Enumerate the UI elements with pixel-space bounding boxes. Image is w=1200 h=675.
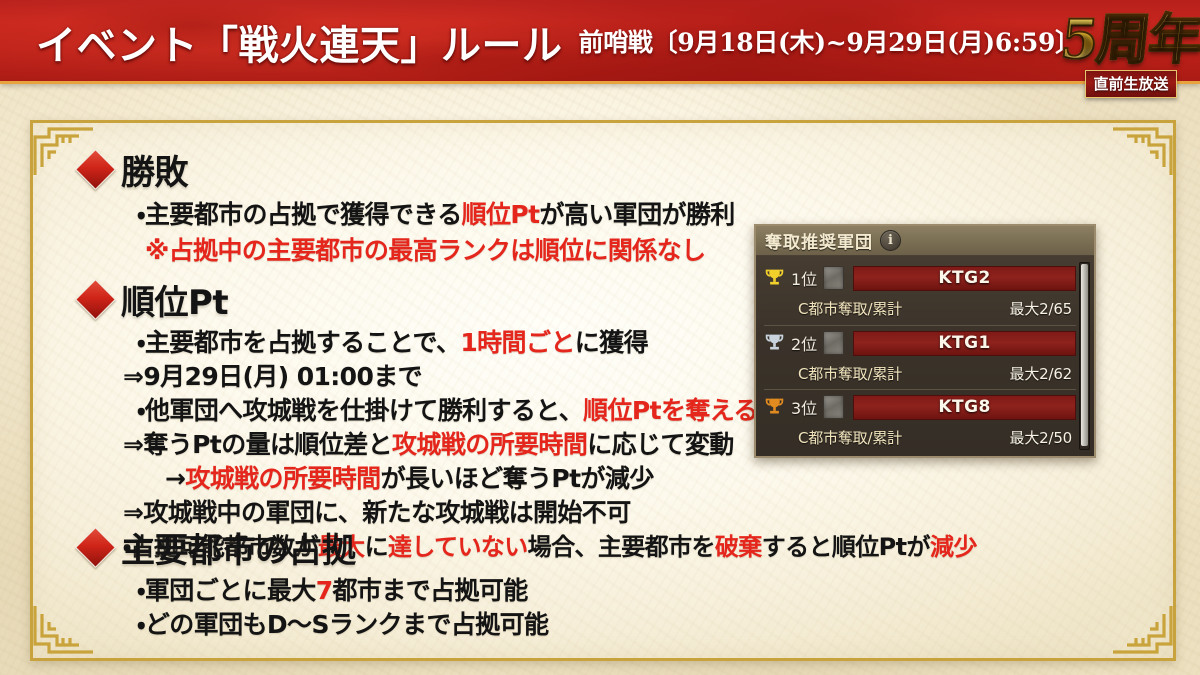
panel-header: 奪取推奨軍団 i (756, 226, 1094, 256)
text-fragment: ・軍団ごとに最大 (137, 576, 316, 605)
text-fragment-highlight: 攻城戦の所要時間 (392, 430, 587, 459)
text-fragment: に応じて変動 (587, 430, 733, 459)
text-fragment: ⇒9月29日(月) 01:00まで (123, 362, 422, 391)
section-heading-shouhai: 勝敗 (81, 145, 188, 194)
legion-emblem-icon (823, 331, 844, 355)
legion-name-bar: KTG2 (853, 266, 1076, 291)
text-fragment-highlight: 1時間ごと (460, 328, 574, 357)
table-row[interactable]: 3位 KTG8 C都市奪取/累計 最大2/50 (764, 389, 1076, 453)
anniversary-badge-label: 5周年 (1057, 2, 1200, 76)
section-heading-label: 勝敗 (121, 145, 188, 194)
scrollbar-thumb[interactable] (1081, 264, 1088, 446)
rule-line: ・どの軍団もD〜Sランクまで占拠可能 (137, 605, 548, 641)
section-heading-label: 順位Pt (121, 275, 228, 324)
rank-row-metrics: C都市奪取/累計 最大2/62 (764, 360, 1076, 386)
rule-line: ・軍団ごとに最大7都市まで占拠可能 (137, 571, 528, 607)
rank-row-metrics: C都市奪取/累計 最大2/65 (764, 295, 1076, 321)
panel-title: 奪取推奨軍団 (765, 228, 873, 253)
legion-name-bar: KTG8 (853, 395, 1076, 420)
legion-rank-list[interactable]: 1位 KTG2 C都市奪取/累計 最大2/65 2位 KTG1 (756, 256, 1094, 456)
recommended-legions-panel: 奪取推奨軍団 i 1位 KTG2 C都市奪取/累計 最大2/65 (754, 224, 1096, 458)
text-fragment: ⇒奪うPtの量は順位差と (123, 430, 392, 459)
text-fragment: ・他軍団へ攻城戦を仕掛けて勝利すると、 (137, 396, 583, 425)
rank-label: 2位 (791, 331, 817, 355)
text-fragment: 場合、主要都市を (528, 533, 715, 561)
text-fragment-highlight: 破棄 (715, 533, 762, 561)
section-heading-junipt: 順位Pt (81, 275, 228, 324)
legion-name: KTG2 (938, 268, 991, 288)
metric-label: C都市奪取/累計 (798, 427, 902, 448)
legion-name: KTG8 (938, 397, 991, 417)
text-fragment: ・主要都市の占拠で獲得できる (137, 200, 462, 229)
text-fragment-highlight: 攻城戦の所要時間 (185, 464, 380, 493)
rank-label: 1位 (791, 266, 817, 290)
section-heading-shuyotoshi: 主要都市の占拠 (81, 523, 356, 572)
text-fragment: 都市まで占拠可能 (333, 576, 528, 605)
info-icon[interactable]: i (880, 230, 901, 251)
text-fragment: が長いほど奪うPtが減少 (381, 464, 654, 493)
rank-row-top: 3位 KTG8 (764, 390, 1076, 424)
text-fragment: ・主要都市を占拠することで、 (137, 328, 460, 357)
event-period: 前哨戦〔9月18日(木)~9月29日(月)6:59〕 (579, 23, 1080, 61)
section-heading-label: 主要都市の占拠 (121, 523, 356, 572)
text-fragment: → (165, 464, 185, 493)
diamond-bullet-icon (75, 279, 116, 320)
legion-emblem-icon (823, 266, 844, 290)
table-row[interactable]: 1位 KTG2 C都市奪取/累計 最大2/65 (764, 261, 1076, 325)
trophy-gold-icon (764, 267, 785, 289)
rule-line: →攻城戦の所要時間が長いほど奪うPtが減少 (165, 459, 654, 495)
text-fragment-highlight: 達していない (388, 533, 528, 561)
text-fragment: が高い軍団が勝利 (539, 200, 734, 229)
text-fragment-highlight: 減少 (930, 533, 977, 561)
diamond-bullet-icon (75, 149, 116, 190)
title-row: イベント「戦火連天」ルール 前哨戦〔9月18日(木)~9月29日(月)6:59〕 (36, 0, 1080, 84)
text-fragment: に獲得 (575, 328, 648, 357)
trophy-bronze-icon (764, 396, 785, 418)
rule-line: ※占拠中の主要都市の最高ランクは順位に関係なし (145, 231, 706, 267)
rule-line: ・主要都市を占拠することで、1時間ごとに獲得 (137, 323, 648, 359)
title-banner: イベント「戦火連天」ルール 前哨戦〔9月18日(木)~9月29日(月)6:59〕 (0, 0, 1200, 84)
text-fragment-highlight: 順位Pt (462, 200, 540, 229)
text-fragment: に (365, 533, 388, 561)
rank-row-top: 1位 KTG2 (764, 261, 1076, 295)
anniversary-badge: 5周年 直前生放送 (1068, 2, 1194, 112)
trophy-silver-icon (764, 332, 785, 354)
table-row[interactable]: 2位 KTG1 C都市奪取/累計 最大2/62 (764, 325, 1076, 389)
text-fragment: ・どの軍団もD〜Sランクまで占拠可能 (137, 610, 548, 639)
text-fragment-highlight: 順位Ptを奪える (583, 396, 758, 425)
legion-name-bar: KTG1 (853, 331, 1076, 356)
legion-emblem-icon (823, 395, 844, 419)
page-title: イベント「戦火連天」ルール (36, 13, 563, 71)
diamond-bullet-icon (75, 527, 116, 568)
rule-line: ・主要都市の占拠で獲得できる順位Ptが高い軍団が勝利 (137, 195, 735, 231)
slide-background: イベント「戦火連天」ルール 前哨戦〔9月18日(木)~9月29日(月)6:59〕… (0, 0, 1200, 675)
metric-value: 最大2/65 (1010, 298, 1072, 319)
metric-label: C都市奪取/累計 (798, 298, 902, 319)
metric-label: C都市奪取/累計 (798, 363, 902, 384)
rule-line: ・他軍団へ攻城戦を仕掛けて勝利すると、順位Ptを奪える (137, 391, 758, 427)
rank-row-metrics: C都市奪取/累計 最大2/50 (764, 424, 1076, 450)
rank-row-top: 2位 KTG1 (764, 326, 1076, 360)
rule-line: ⇒9月29日(月) 01:00まで (123, 357, 422, 393)
legion-name: KTG1 (938, 333, 991, 353)
text-fragment-highlight: ※占拠中の主要都市の最高ランクは順位に関係なし (145, 236, 706, 265)
rank-label: 3位 (791, 395, 817, 419)
rule-line: ⇒奪うPtの量は順位差と攻城戦の所要時間に応じて変動 (123, 425, 734, 461)
panel-scrollbar[interactable] (1079, 262, 1090, 450)
metric-value: 最大2/62 (1010, 363, 1072, 384)
text-fragment-highlight: 7 (316, 576, 333, 605)
text-fragment: すると順位Ptが (762, 533, 930, 561)
metric-value: 最大2/50 (1010, 427, 1072, 448)
